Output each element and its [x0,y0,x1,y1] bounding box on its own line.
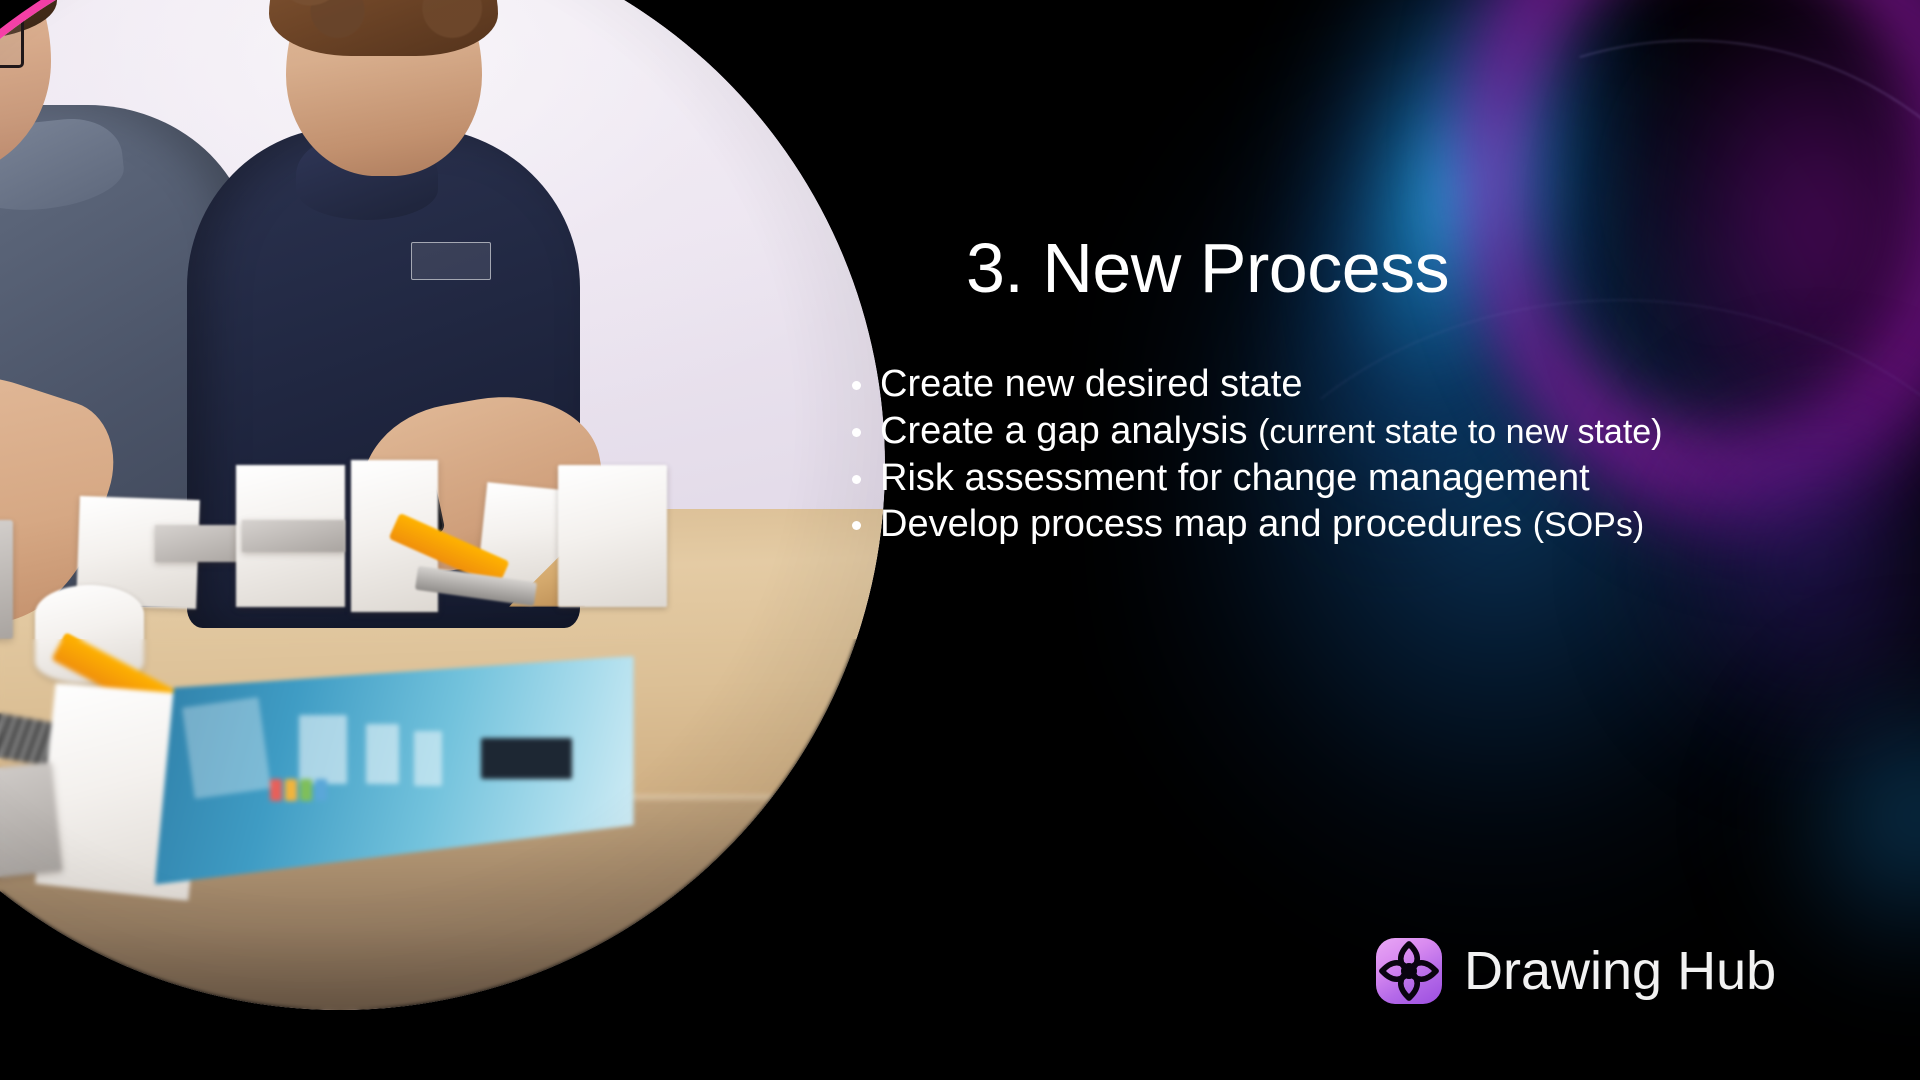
bullet-text: Create new desired state [880,363,1302,405]
brand-name: Drawing Hub [1464,940,1776,1002]
bullet-item: Risk assessment for change management [836,456,1846,501]
slide-canvas: 3. New Process Create new desired state … [0,0,1920,1080]
bullet-text: Create a gap analysis [880,410,1258,452]
brand-logo[interactable]: Drawing Hub [1376,938,1776,1004]
bullet-subtext: (current state to new state) [1258,413,1662,451]
slide-content: 3. New Process Create new desired state … [780,0,1920,1080]
circular-photo [0,0,885,1010]
slide-title: 3. New Process [966,233,1449,303]
photo-image [0,0,885,1010]
bullet-item: Create new desired state [836,362,1846,407]
bullet-subtext: (SOPs) [1533,506,1644,544]
bullet-text: Develop process map and procedures [880,503,1533,545]
bullet-item: Develop process map and procedures (SOPs… [836,502,1846,547]
bullet-text: Risk assessment for change management [880,457,1590,499]
bullet-item: Create a gap analysis (current state to … [836,409,1846,454]
drawing-hub-knot-icon [1376,938,1442,1004]
bullet-list: Create new desired state Create a gap an… [836,362,1846,549]
